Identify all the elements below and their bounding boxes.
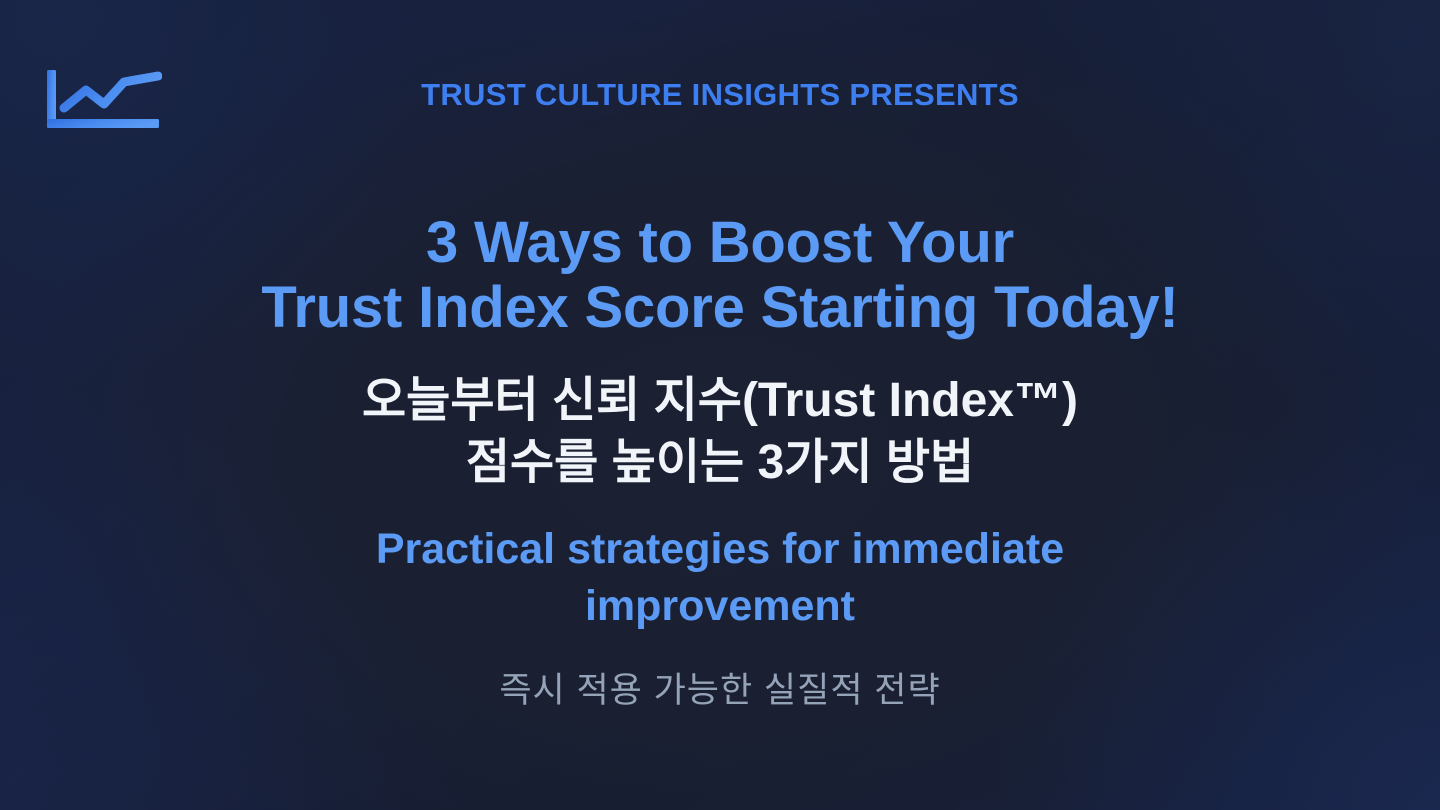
page-title-korean: 오늘부터 신뢰 지수(Trust Index™) 점수를 높이는 3가지 방법 — [0, 370, 1440, 495]
page-title-korean-line-1: 오늘부터 신뢰 지수(Trust Index™) — [0, 370, 1440, 432]
page-subtitle-korean: 즉시 적용 가능한 실질적 전략 — [0, 668, 1440, 714]
presentation-title-slide: TRUST CULTURE INSIGHTS PRESENTS 3 Ways t… — [0, 0, 1440, 810]
page-title-line-1: 3 Ways to Boost Your — [0, 211, 1440, 276]
page-subtitle-line-1: Practical strategies for immediate — [0, 521, 1440, 578]
page-subtitle: Practical strategies for immediate impro… — [0, 521, 1440, 635]
slide-content: TRUST CULTURE INSIGHTS PRESENTS 3 Ways t… — [0, 0, 1440, 810]
page-subtitle-line-2: improvement — [0, 578, 1440, 635]
page-title-korean-line-2: 점수를 높이는 3가지 방법 — [0, 432, 1440, 494]
eyebrow-text: TRUST CULTURE INSIGHTS PRESENTS — [0, 76, 1440, 113]
page-title-line-2: Trust Index Score Starting Today! — [0, 276, 1440, 341]
page-title: 3 Ways to Boost Your Trust Index Score S… — [0, 211, 1440, 341]
